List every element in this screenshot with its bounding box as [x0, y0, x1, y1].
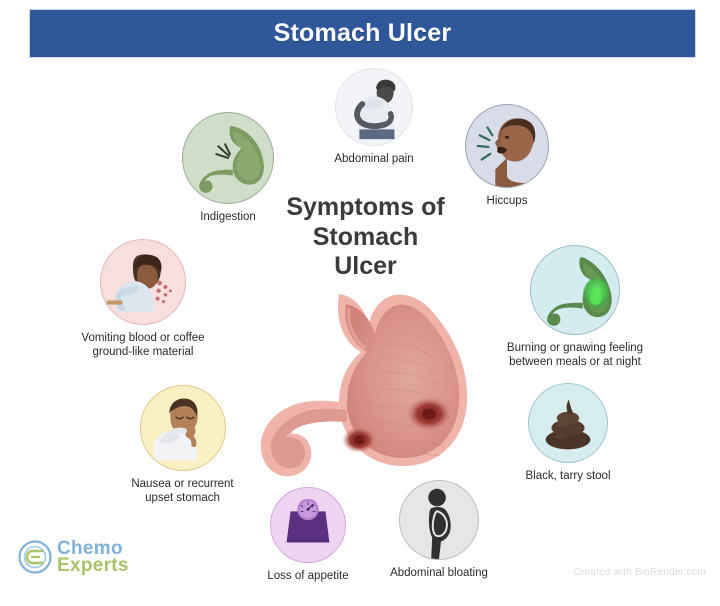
chemoexperts-logo[interactable]: Chemo Experts [18, 540, 129, 575]
symptom-label: Vomiting blood or coffee ground-like mat… [81, 331, 204, 360]
green-stomach-icon [182, 112, 274, 204]
person-vomiting-blood-icon [100, 239, 186, 325]
symptom-vomiting-blood[interactable]: Vomiting blood or coffee ground-like mat… [63, 239, 223, 360]
weighing-scale-icon [270, 487, 346, 563]
bloated-figure-silhouette-icon [399, 480, 479, 560]
symptom-burning-gnawing[interactable]: Burning or gnawing feeling between meals… [490, 245, 660, 370]
symptom-label: Abdominal pain [334, 152, 413, 166]
center-title: Symptoms of Stomach Ulcer [278, 193, 453, 282]
symptom-label: Abdominal bloating [390, 566, 488, 580]
symptom-label: Hiccups [487, 194, 528, 208]
symptom-black-tarry-stool[interactable]: Black, tarry stool [498, 383, 638, 483]
person-nauseated-icon [140, 385, 226, 471]
symptom-label: Nausea or recurrent upset stomach [131, 477, 233, 506]
symptom-hiccups[interactable]: Hiccups [452, 104, 562, 208]
symptom-loss-of-appetite[interactable]: Loss of appetite [248, 487, 368, 583]
infographic-canvas: Stomach Ulcer Symptoms of Stomach Ulcer [0, 0, 720, 606]
attribution-text: Created with BioRender.com [574, 567, 707, 578]
symptom-label: Loss of appetite [267, 569, 348, 583]
symptom-label: Indigestion [200, 210, 256, 224]
symptom-abdominal-pain[interactable]: Abdominal pain [314, 68, 434, 166]
burning-stomach-icon [530, 245, 620, 335]
stool-icon [528, 383, 608, 463]
header-banner: Stomach Ulcer [30, 10, 695, 57]
symptom-nausea[interactable]: Nausea or recurrent upset stomach [105, 385, 260, 506]
circle-e-emblem-icon [18, 540, 52, 574]
person-profile-hiccup-icon [465, 104, 549, 188]
symptom-indigestion[interactable]: Indigestion [164, 112, 292, 224]
symptom-abdominal-bloating[interactable]: Abdominal bloating [375, 480, 503, 580]
stomach-illustration [243, 290, 488, 490]
symptom-label: Black, tarry stool [526, 469, 611, 483]
logo-word-experts: Experts [57, 557, 129, 574]
symptom-label: Burning or gnawing feeling between meals… [507, 341, 643, 370]
person-holding-stomach-icon [335, 68, 413, 146]
page-title: Stomach Ulcer [274, 19, 452, 48]
